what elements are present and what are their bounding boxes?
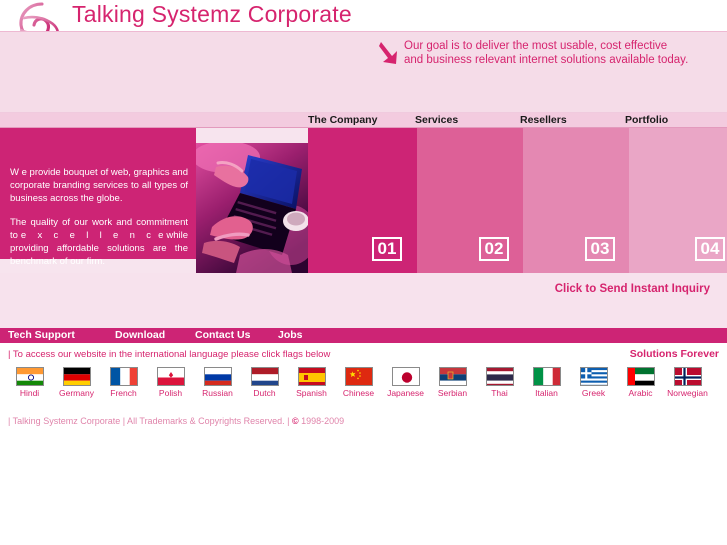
- solutions-forever-slogan: Solutions Forever: [630, 348, 719, 360]
- tagline-band: Our goal is to deliver the most usable, …: [0, 31, 727, 113]
- flag-label-japanese: Japanese: [382, 388, 429, 398]
- copyright-years: 1998-2009: [299, 416, 345, 426]
- bottom-nav-item-jobs[interactable]: Jobs: [278, 329, 303, 341]
- flag-china-icon: [345, 367, 373, 386]
- bottom-nav-item-tech-support[interactable]: Tech Support: [8, 329, 75, 341]
- language-instruction-text: | To access our website in the internati…: [8, 349, 330, 360]
- flag-greece-icon: [580, 367, 608, 386]
- intro-paragraph-2: The quality of our work and commitment t…: [10, 216, 188, 268]
- flag-russia-icon: [204, 367, 232, 386]
- flag-label-dutch: Dutch: [241, 388, 288, 398]
- copyright-line: | Talking Systemz Corporate | All Tradem…: [8, 416, 344, 426]
- flag-label-chinese: Chinese: [335, 388, 382, 398]
- flag-label-greek: Greek: [570, 388, 617, 398]
- send-instant-inquiry-link[interactable]: Click to Send Instant Inquiry: [370, 279, 710, 299]
- flag-label-arabic: Arabic: [617, 388, 664, 398]
- flag-item-dutch[interactable]: Dutch: [241, 367, 288, 398]
- flag-label-polish: Polish: [147, 388, 194, 398]
- flag-japan-icon: [392, 367, 420, 386]
- flag-item-germany[interactable]: Germany: [53, 367, 100, 398]
- section-nav-strip: The Company Services Resellers Portfolio: [0, 113, 727, 128]
- tagline-text: Our goal is to deliver the most usable, …: [404, 39, 688, 67]
- flag-poland-icon: [157, 367, 185, 386]
- flag-item-chinese[interactable]: Chinese: [335, 367, 382, 398]
- intro-text: W e provide bouquet of web, graphics and…: [10, 166, 188, 279]
- content-panel-services[interactable]: 02: [417, 128, 523, 273]
- flag-item-hindi[interactable]: Hindi: [6, 367, 53, 398]
- content-panel-portfolio[interactable]: 04: [629, 128, 727, 273]
- nav-item-portfolio[interactable]: Portfolio: [625, 114, 668, 126]
- flag-item-spanish[interactable]: Spanish: [288, 367, 335, 398]
- down-right-arrow-icon: [378, 40, 400, 66]
- flag-item-arabic[interactable]: Arabic: [617, 367, 664, 398]
- flag-thailand-icon: [486, 367, 514, 386]
- nav-item-the-company[interactable]: The Company: [308, 114, 377, 126]
- flag-uae-icon: [627, 367, 655, 386]
- main-content: W e provide bouquet of web, graphics and…: [0, 128, 727, 273]
- copyright-prefix: | Talking Systemz Corporate | All Tradem…: [8, 416, 292, 426]
- flag-label-serbian: Serbian: [429, 388, 476, 398]
- intro-panel: W e provide bouquet of web, graphics and…: [0, 128, 196, 259]
- flag-india-icon: [16, 367, 44, 386]
- flag-label-french: French: [100, 388, 147, 398]
- panel-number-02: 02: [479, 237, 509, 261]
- bottom-nav-bar: Tech Support Download Contact Us Jobs: [0, 328, 727, 343]
- hands-typing-on-laptop-photo: [196, 143, 308, 273]
- flag-france-icon: [110, 367, 138, 386]
- flag-item-greek[interactable]: Greek: [570, 367, 617, 398]
- panel-number-01: 01: [372, 237, 402, 261]
- panel-number-04: 04: [695, 237, 725, 261]
- copyright-symbol: ©: [292, 416, 299, 426]
- nav-item-resellers[interactable]: Resellers: [520, 114, 567, 126]
- language-selector-area: | To access our website in the internati…: [0, 343, 727, 448]
- flag-label-spanish: Spanish: [288, 388, 335, 398]
- intro-paragraph-1: W e provide bouquet of web, graphics and…: [10, 166, 188, 205]
- flag-item-japanese[interactable]: Japanese: [382, 367, 429, 398]
- flag-item-polish[interactable]: Polish: [147, 367, 194, 398]
- flag-label-germany: Germany: [53, 388, 100, 398]
- panel-number-03: 03: [585, 237, 615, 261]
- flag-serbia-icon: [439, 367, 467, 386]
- flag-list: Hindi Germany French Polish Russian: [6, 367, 722, 398]
- flag-norway-icon: [674, 367, 702, 386]
- bottom-nav-item-contact-us[interactable]: Contact Us: [195, 329, 250, 341]
- site-header: Talking Systemz Corporate: [0, 0, 727, 31]
- inquiry-band: Click to Send Instant Inquiry: [0, 273, 727, 328]
- flag-label-thai: Thai: [476, 388, 523, 398]
- nav-item-services[interactable]: Services: [415, 114, 458, 126]
- content-panel-resellers[interactable]: 03: [523, 128, 629, 273]
- flag-item-norwegian[interactable]: Norwegian: [664, 367, 711, 398]
- flag-label-norwegian: Norwegian: [664, 388, 711, 398]
- tagline: Our goal is to deliver the most usable, …: [378, 39, 688, 67]
- flag-italy-icon: [533, 367, 561, 386]
- flag-label-italian: Italian: [523, 388, 570, 398]
- flag-item-italian[interactable]: Italian: [523, 367, 570, 398]
- flag-spain-icon: [298, 367, 326, 386]
- flag-item-serbian[interactable]: Serbian: [429, 367, 476, 398]
- flag-item-french[interactable]: French: [100, 367, 147, 398]
- flag-label-hindi: Hindi: [6, 388, 53, 398]
- flag-item-thai[interactable]: Thai: [476, 367, 523, 398]
- intro-p2-spaced: e x c e l l e n c: [21, 230, 155, 241]
- bottom-nav-item-download[interactable]: Download: [115, 329, 165, 341]
- flag-germany-icon: [63, 367, 91, 386]
- page-title: Talking Systemz Corporate: [72, 1, 352, 28]
- flag-item-russian[interactable]: Russian: [194, 367, 241, 398]
- flag-label-russian: Russian: [194, 388, 241, 398]
- content-panel-the-company[interactable]: 01: [308, 128, 417, 273]
- flag-netherlands-icon: [251, 367, 279, 386]
